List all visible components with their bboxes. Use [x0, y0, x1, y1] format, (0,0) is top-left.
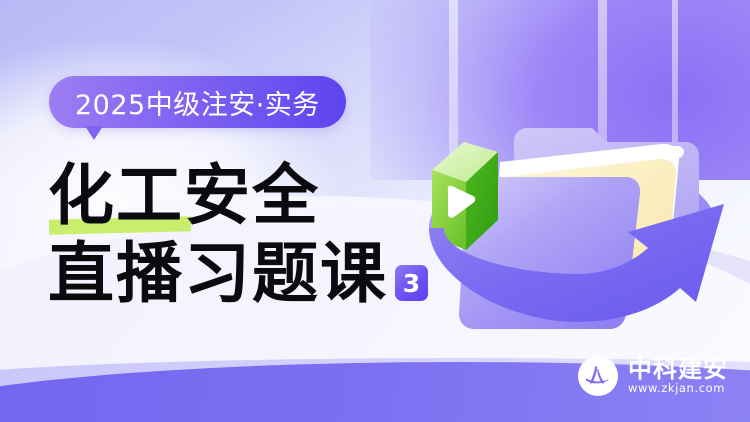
brand-logo[interactable]: 中科建安 www.zkjan.com [578, 356, 728, 396]
headline-row-2: 直播习题课 3 [48, 230, 468, 308]
zkjan-logo-icon [578, 356, 618, 396]
course-tag-label: 2025中级注安·实务 [75, 83, 320, 122]
course-tag-pill[interactable]: 2025中级注安·实务 [49, 76, 346, 128]
course-banner: 2025中级注安·实务 化工安全 直播习题课 3 中科建安 www.zkjan [0, 0, 750, 422]
episode-number-badge: 3 [395, 265, 428, 301]
brand-url-label: www.zkjan.com [628, 383, 728, 395]
brand-text: 中科建安 www.zkjan.com [628, 357, 728, 395]
headline-row-1: 化工安全 [48, 152, 468, 230]
title-line-1: 化工安全 [48, 160, 320, 230]
episode-number-label: 3 [403, 271, 420, 296]
pill-tail [85, 126, 103, 140]
title-line-2: 直播习题课 [48, 238, 388, 308]
brand-name-label: 中科建安 [628, 357, 728, 381]
headline-block: 化工安全 直播习题课 3 [48, 152, 468, 308]
